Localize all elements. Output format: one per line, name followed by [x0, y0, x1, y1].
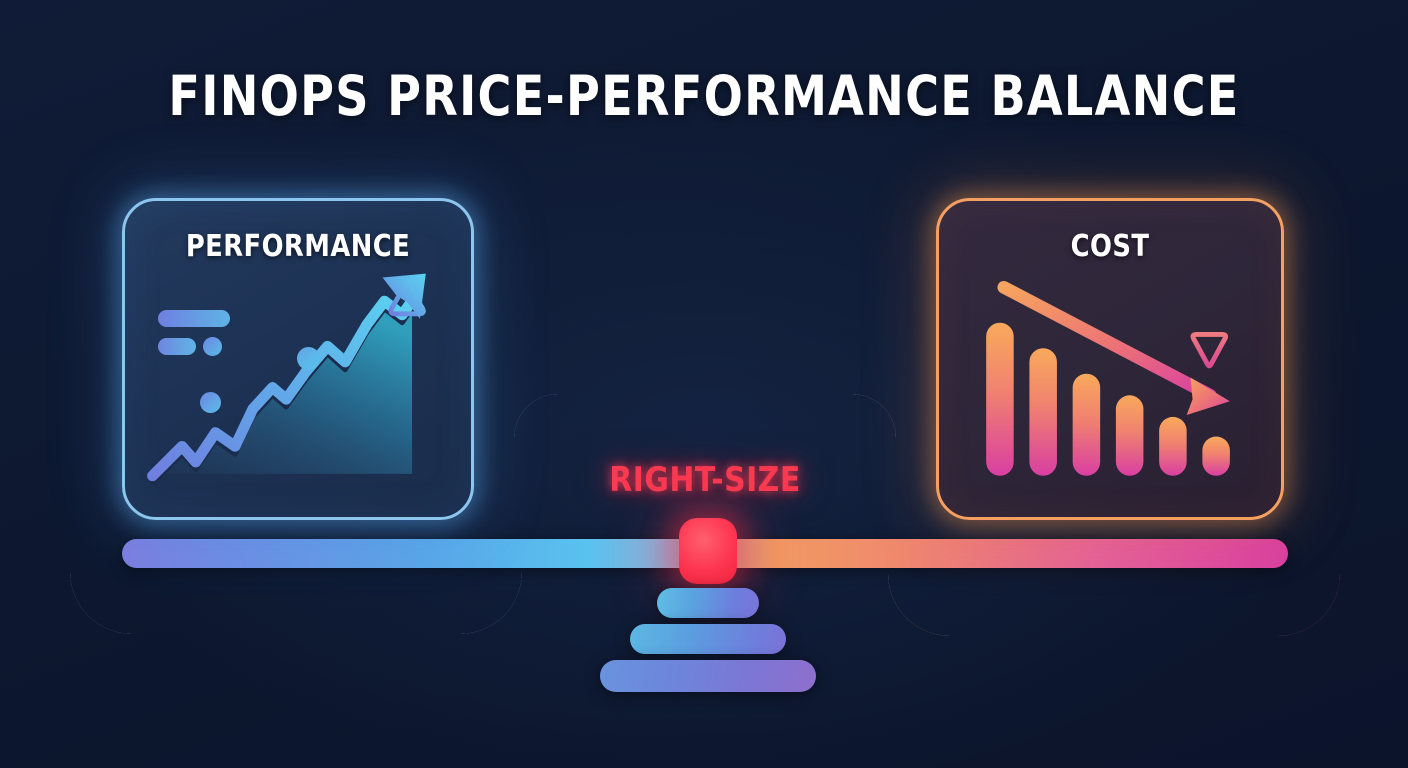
cost-bar-6 — [1202, 437, 1230, 476]
pedestal-tier-1 — [657, 588, 759, 618]
legend-dot — [203, 337, 222, 356]
cost-bar-5 — [1159, 417, 1187, 476]
cost-bar-4 — [1116, 395, 1144, 475]
legend-bar-long — [158, 310, 230, 327]
data-point-marker-2 — [297, 347, 320, 370]
cost-card[interactable]: COST — [936, 198, 1284, 520]
cost-bar-3 — [1073, 374, 1101, 476]
cost-card-title: COST — [963, 229, 1257, 264]
cost-bar-2 — [1029, 348, 1057, 476]
cost-bar-1 — [986, 323, 1014, 476]
pedestal-tier-2 — [630, 624, 786, 654]
chevron-down-icon — [1193, 334, 1226, 365]
legend-bar-short — [158, 338, 196, 355]
data-point-marker-1 — [200, 392, 221, 413]
poster-canvas: FINOPS PRICE-PERFORMANCE BALANCE RIGHT-S… — [0, 0, 1408, 768]
page-title: FINOPS PRICE-PERFORMANCE BALANCE — [113, 64, 1296, 128]
right-size-label: RIGHT-SIZE — [537, 460, 873, 500]
pedestal-tier-3 — [600, 660, 816, 692]
scale-pivot — [679, 518, 737, 584]
cost-arrow-head — [1187, 378, 1230, 415]
performance-card-title: PERFORMANCE — [149, 229, 447, 264]
